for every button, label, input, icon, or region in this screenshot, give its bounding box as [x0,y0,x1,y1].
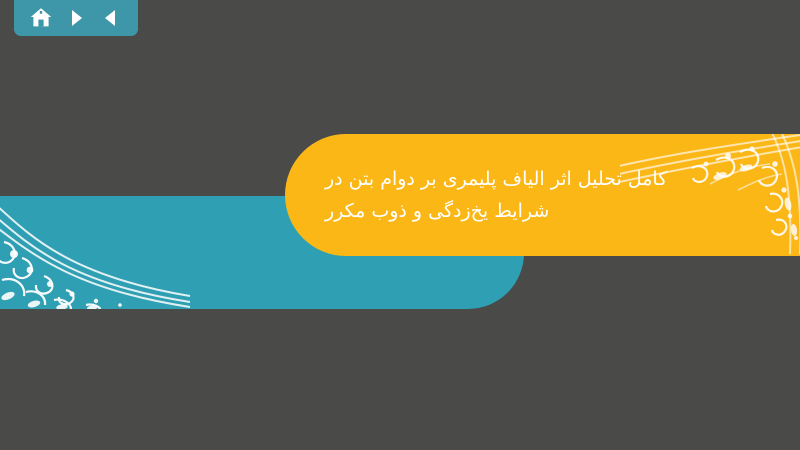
next-slide-button[interactable] [63,5,89,31]
previous-arrow-icon [100,7,122,29]
yellow-title-band [285,134,800,256]
previous-slide-button[interactable] [98,5,124,31]
home-button[interactable] [28,5,54,31]
arabesque-ornament-teal [0,196,190,309]
navigation-toolbar [14,0,138,36]
arabesque-ornament-yellow [620,134,800,256]
next-arrow-icon [65,7,87,29]
slide-canvas: کامل تحلیل اثر الیاف پلیمری بر دوام بتن … [0,0,800,450]
home-icon [29,6,53,30]
